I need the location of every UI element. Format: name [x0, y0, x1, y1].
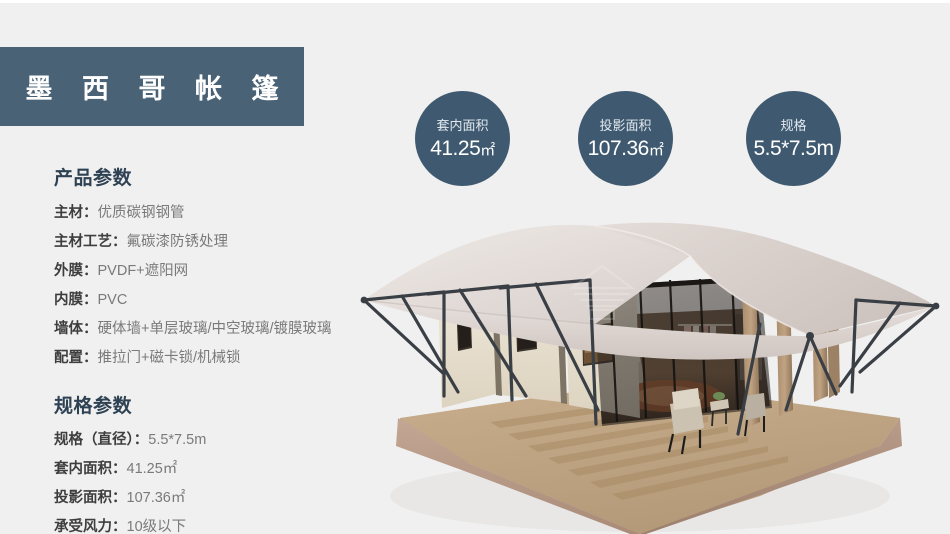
spec-value: PVDF+遮阳网 [98, 263, 189, 279]
stat-label: 规格 [780, 119, 806, 132]
spec-row: 内膜：PVC [54, 286, 374, 315]
stat-badge-dimensions: 规格 5.5*7.5m [746, 91, 841, 186]
spec-label: 主材工艺： [54, 234, 127, 250]
spec-row: 规格（直径）：5.5*7.5m [54, 426, 374, 455]
product-params-heading: 产品参数 [54, 163, 374, 190]
info-panel: 产品参数 主材：优质碳钢钢管 主材工艺：氟碳漆防锈处理 外膜：PVDF+遮阳网 … [54, 163, 374, 534]
stat-unit: ㎡ [649, 142, 664, 159]
spec-label: 内膜： [54, 292, 98, 308]
product-params-section: 产品参数 主材：优质碳钢钢管 主材工艺：氟碳漆防锈处理 外膜：PVDF+遮阳网 … [54, 163, 374, 373]
spec-label: 投影面积： [54, 490, 127, 506]
spec-row: 主材工艺：氟碳漆防锈处理 [54, 228, 374, 257]
spec-value: PVC [98, 292, 128, 308]
stat-number: 5.5*7.5m [753, 137, 833, 160]
page-title: 墨 西 哥 帐 篷 [14, 67, 289, 106]
spec-label: 配置： [54, 350, 98, 366]
slide-root: 墨 西 哥 帐 篷 产品参数 主材：优质碳钢钢管 主材工艺：氟碳漆防锈处理 外膜… [0, 0, 950, 534]
spec-row: 承受风力：10级以下 [54, 513, 374, 534]
spec-value: 推拉门+磁卡锁/机械锁 [98, 350, 241, 366]
spec-value: 硬体墙+单层玻璃/中空玻璃/镀膜玻璃 [98, 321, 332, 337]
stat-badge-interior-area: 套内面积 41.25㎡ [415, 91, 510, 186]
stat-value: 41.25㎡ [430, 138, 495, 159]
spec-label: 外膜： [54, 263, 98, 279]
spec-label: 主材： [54, 205, 98, 221]
spec-label: 套内面积： [54, 461, 127, 477]
stat-unit: ㎡ [480, 142, 495, 159]
spec-row: 投影面积：107.36㎡ [54, 484, 374, 513]
spec-value: 优质碳钢钢管 [98, 205, 185, 221]
spec-value: 5.5*7.5m [148, 432, 206, 448]
tent-render-image [340, 196, 950, 534]
spec-row: 套内面积：41.25㎡ [54, 455, 374, 484]
spec-row: 配置：推拉门+磁卡锁/机械锁 [54, 344, 374, 373]
spec-value: 107.36㎡ [127, 490, 186, 506]
spec-value: 10级以下 [127, 519, 187, 534]
stat-badge-projected-area: 投影面积 107.36㎡ [578, 91, 673, 186]
stat-value: 5.5*7.5m [753, 138, 833, 159]
spec-label: 承受风力： [54, 519, 127, 534]
stat-number: 41.25 [430, 137, 480, 160]
stat-value: 107.36㎡ [588, 138, 664, 159]
spec-value: 氟碳漆防锈处理 [127, 234, 229, 250]
stat-label: 套内面积 [436, 119, 488, 132]
spec-row: 墙体：硬体墙+单层玻璃/中空玻璃/镀膜玻璃 [54, 315, 374, 344]
stat-label: 投影面积 [599, 119, 651, 132]
title-banner: 墨 西 哥 帐 篷 [0, 47, 304, 126]
spec-label: 规格（直径）： [54, 432, 148, 448]
spec-params-heading: 规格参数 [54, 391, 374, 418]
spec-label: 墙体： [54, 321, 98, 337]
spec-params-section: 规格参数 规格（直径）：5.5*7.5m 套内面积：41.25㎡ 投影面积：10… [54, 391, 374, 534]
spec-row: 主材：优质碳钢钢管 [54, 199, 374, 228]
stat-number: 107.36 [588, 137, 649, 160]
spec-value: 41.25㎡ [127, 461, 178, 477]
spec-row: 外膜：PVDF+遮阳网 [54, 257, 374, 286]
